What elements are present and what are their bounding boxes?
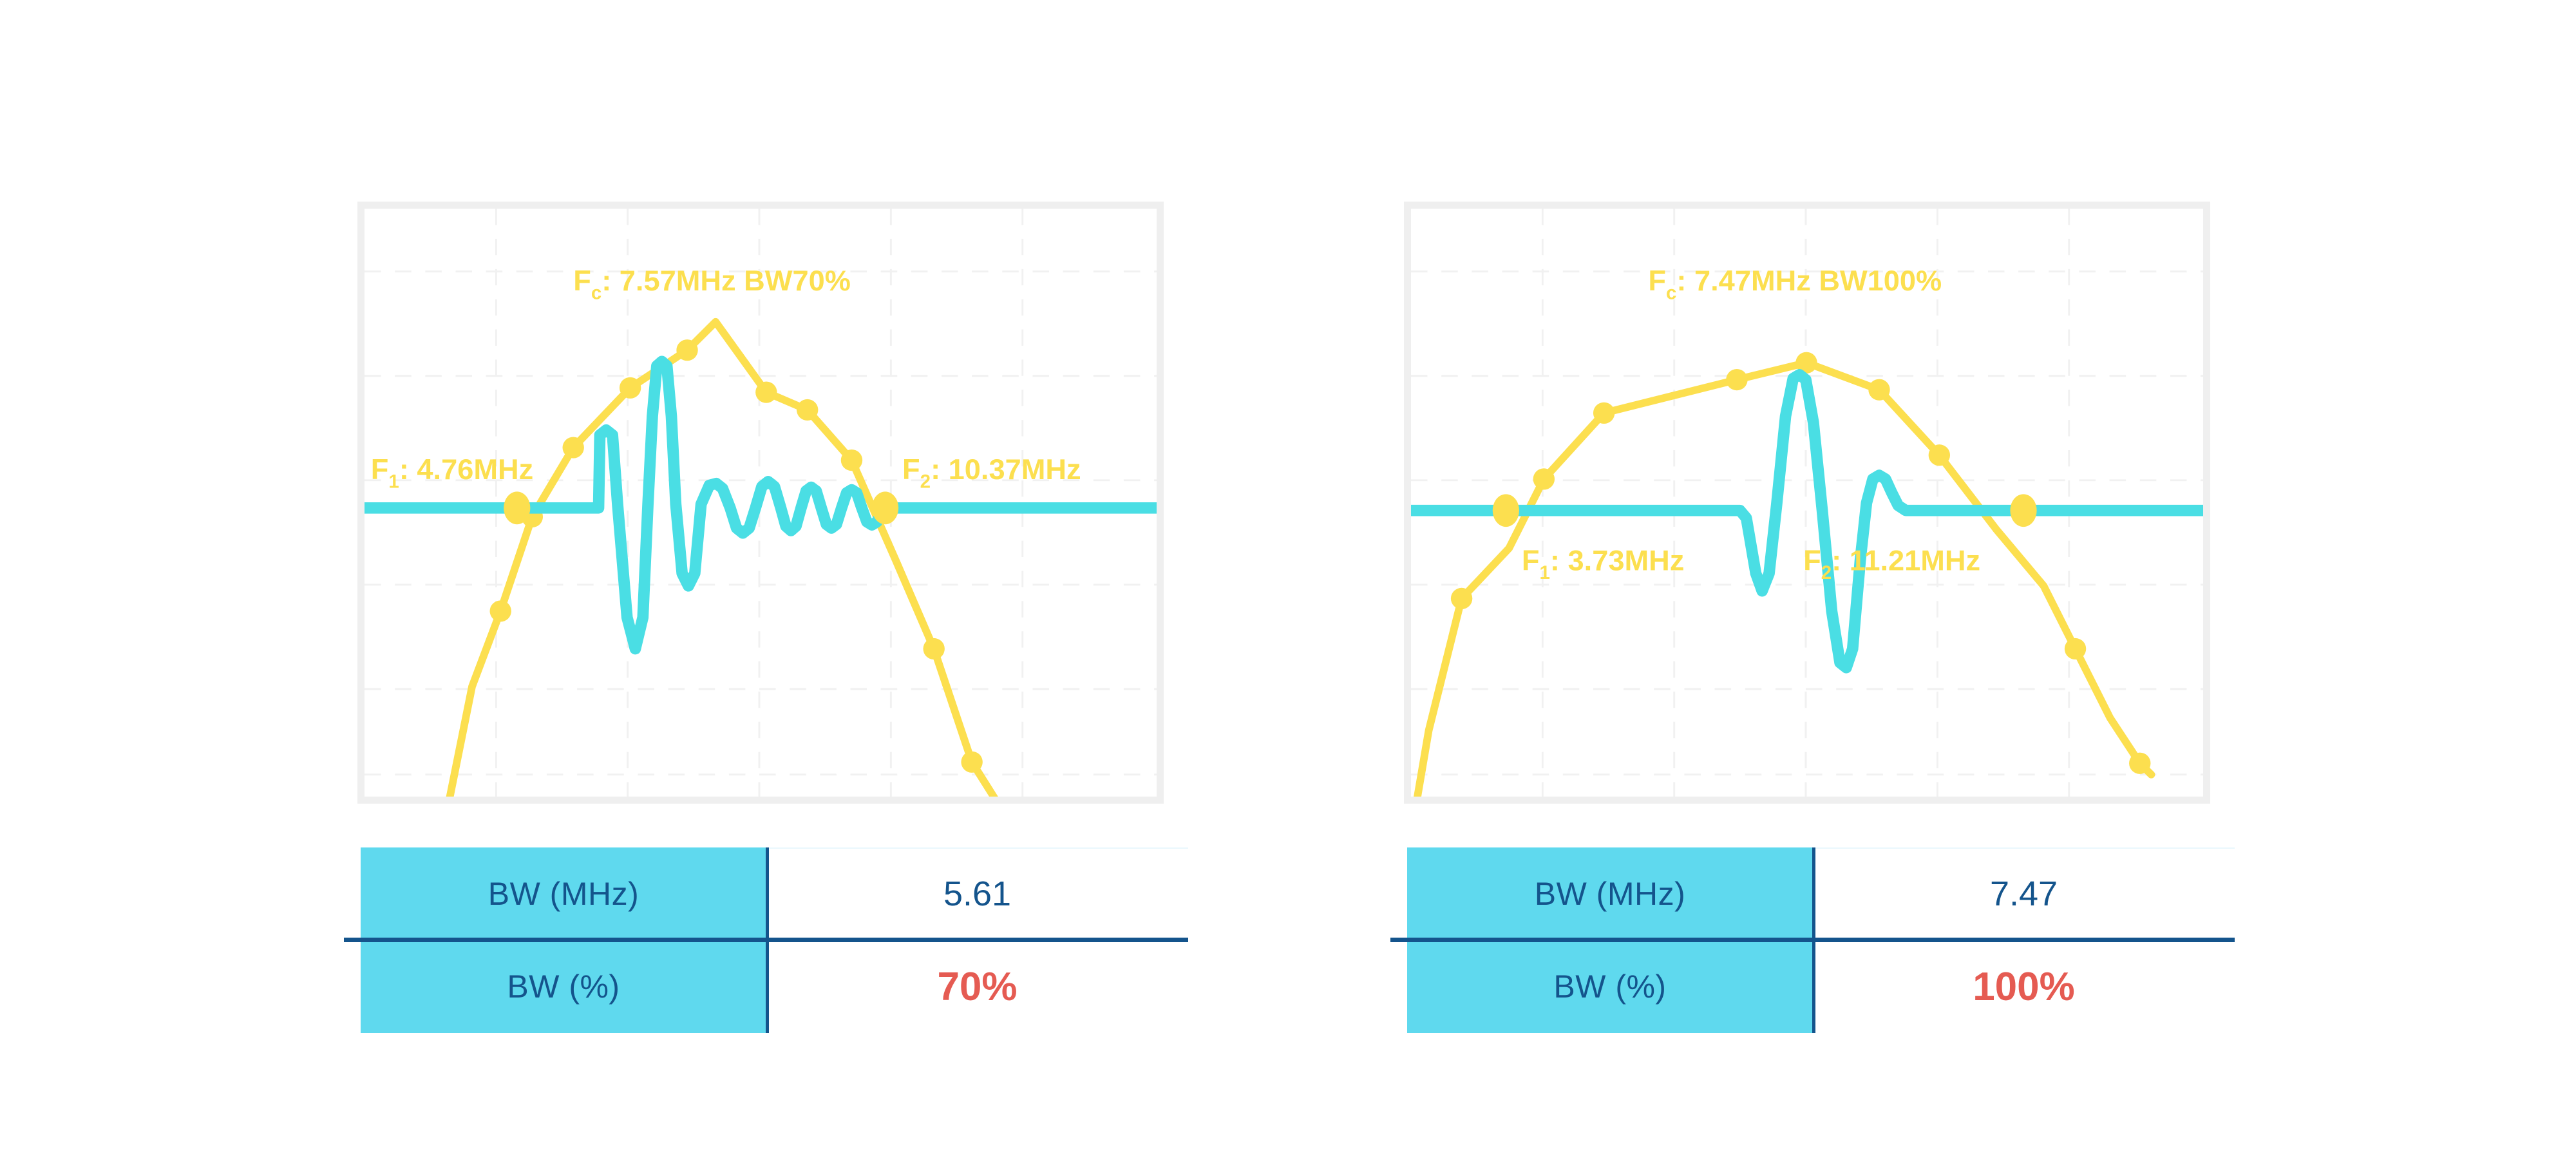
f2-marker <box>872 491 898 524</box>
f1-marker <box>1493 494 1519 527</box>
f1-marker <box>504 491 530 524</box>
svg-text:Fc: 7.47MHz BW100%: Fc: 7.47MHz BW100% <box>1648 264 1942 304</box>
row-label-text: BW (MHz) <box>488 875 639 913</box>
row-label-bw-pct: BW (%) <box>1407 940 1813 1033</box>
row-label-bw-mhz: BW (MHz) <box>361 847 766 940</box>
f2-subscript: 2 <box>1821 562 1832 583</box>
spectrum-chart-right: Fc: 7.47MHz BW100% F1: 3.73MHz F2: 11.21… <box>1404 202 2210 804</box>
f2-prefix: F <box>902 453 920 486</box>
row-value-text: 7.47 <box>1990 874 2058 914</box>
f2-prefix: F <box>1803 544 1821 577</box>
fc-prefix: F <box>1648 264 1666 297</box>
spectrum-chart-left: Fc: 7.57MHz BW70% F1: 4.76MHz F2: 10.37M… <box>357 202 1164 804</box>
f1-prefix: F <box>371 453 389 486</box>
bandwidth-panel-right: Fc: 7.47MHz BW100% F1: 3.73MHz F2: 11.21… <box>1046 0 2334 1154</box>
svg-text:F1: 4.76MHz: F1: 4.76MHz <box>371 453 533 493</box>
f2-subscript: 2 <box>920 471 931 493</box>
f1-rest: : 3.73MHz <box>1550 544 1684 577</box>
f1-subscript: 1 <box>1540 562 1550 583</box>
spectrum-envelope-line <box>447 322 1004 797</box>
pulse-waveform-line <box>1411 375 2203 668</box>
row-value-text: 70% <box>937 964 1017 1010</box>
spectrum-chart-right-svg: Fc: 7.47MHz BW100% F1: 3.73MHz F2: 11.21… <box>1411 209 2203 797</box>
fc-rest: : 7.47MHz BW100% <box>1676 264 1942 297</box>
spectrum-chart-left-svg: Fc: 7.57MHz BW70% F1: 4.76MHz F2: 10.37M… <box>365 209 1157 797</box>
row-value-bw-mhz: 7.47 <box>1813 847 2235 940</box>
spectrum-markers <box>490 339 983 773</box>
row-value-text: 5.61 <box>943 874 1011 914</box>
f1-rest: : 4.76MHz <box>399 453 533 486</box>
table-row: BW (%) 100% <box>1407 940 2235 1033</box>
row-label-text: BW (%) <box>1553 968 1666 1005</box>
annotation-center: Fc: 7.57MHz BW70% <box>573 264 851 304</box>
row-label-text: BW (%) <box>507 968 620 1005</box>
row-value-bw-pct: 100% <box>1813 940 2235 1033</box>
svg-text:F1: 3.73MHz: F1: 3.73MHz <box>1522 544 1684 584</box>
fc-subscript: c <box>591 283 601 304</box>
row-value-text: 100% <box>1973 964 2075 1010</box>
bandwidth-table-right: BW (MHz) 7.47 BW (%) 100% <box>1407 847 2235 1033</box>
f2-marker <box>2010 494 2036 527</box>
row-label-bw-pct: BW (%) <box>361 940 766 1033</box>
f1-subscript: 1 <box>388 471 399 493</box>
table-row-divider <box>1390 938 2235 942</box>
f2-rest: : 11.21MHz <box>1832 544 1980 577</box>
f1-prefix: F <box>1522 544 1540 577</box>
fc-prefix: F <box>573 264 591 297</box>
table-row: BW (MHz) 7.47 <box>1407 847 2235 940</box>
row-label-bw-mhz: BW (MHz) <box>1407 847 1813 940</box>
pulse-waveform-line <box>365 361 1157 648</box>
annotation-f1: F1: 3.73MHz <box>1522 544 1684 584</box>
svg-text:Fc: 7.57MHz BW70%: Fc: 7.57MHz BW70% <box>573 264 851 304</box>
row-label-text: BW (MHz) <box>1535 875 1686 913</box>
annotation-f1: F1: 4.76MHz <box>371 453 533 493</box>
fc-rest: : 7.57MHz BW70% <box>601 264 851 297</box>
fc-subscript: c <box>1666 283 1676 304</box>
annotation-center: Fc: 7.47MHz BW100% <box>1648 264 1942 304</box>
